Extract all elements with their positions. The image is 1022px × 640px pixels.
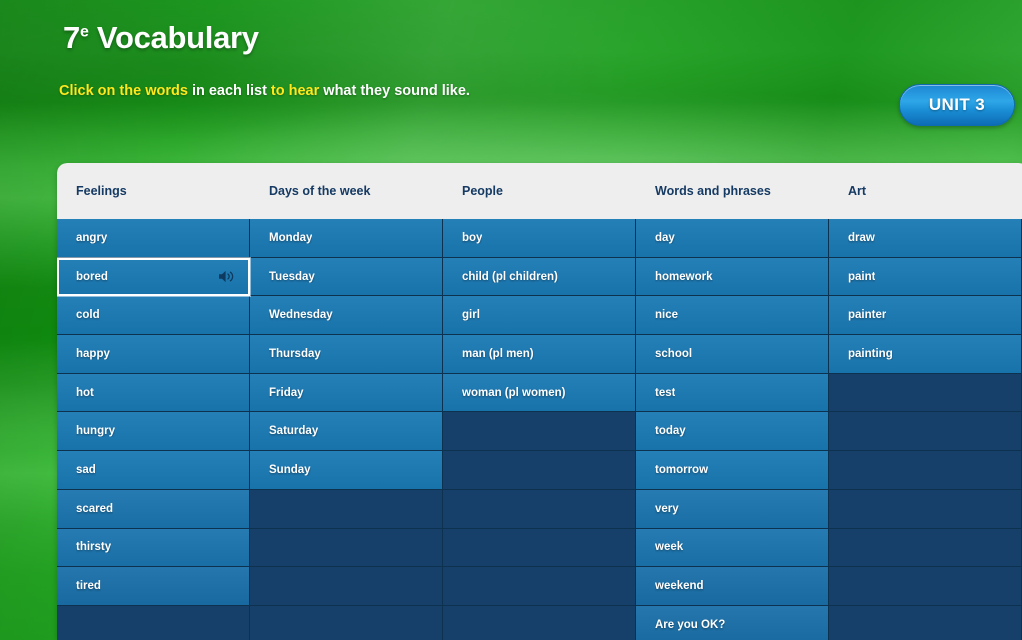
empty-cell	[443, 606, 636, 640]
vocab-word-label: man (pl men)	[462, 348, 534, 360]
vocab-word-label: Thursday	[269, 348, 321, 360]
vocab-word-cell[interactable]: painting	[829, 335, 1022, 374]
vocab-word-cell-selected[interactable]: bored	[57, 258, 250, 297]
vocab-word-label: Wednesday	[269, 309, 333, 321]
instruction-plain-1: in each list	[188, 83, 271, 99]
vocab-word-cell[interactable]: Are you OK?	[636, 606, 829, 640]
table-row: angryMondayboydaydraw	[57, 219, 1022, 258]
vocab-word-label: painting	[848, 348, 893, 360]
vocab-word-cell[interactable]: nice	[636, 296, 829, 335]
vocab-word-label: nice	[655, 309, 678, 321]
vocab-word-label: school	[655, 348, 692, 360]
empty-cell	[829, 490, 1022, 529]
table-body: angryMondayboydaydrawboredTuesdaychild (…	[57, 219, 1022, 640]
table-row: Are you OK?	[57, 606, 1022, 640]
vocab-word-cell[interactable]: sad	[57, 451, 250, 490]
vocab-word-label: Are you OK?	[655, 619, 725, 631]
page-title-main: Vocabulary	[97, 20, 259, 55]
vocab-word-cell[interactable]: weekend	[636, 567, 829, 606]
vocab-word-cell[interactable]: hungry	[57, 412, 250, 451]
vocab-word-label: homework	[655, 271, 713, 283]
page-header: 7e Vocabulary Click on the words in each…	[0, 0, 1022, 163]
vocab-word-cell[interactable]: Friday	[250, 374, 443, 413]
vocab-word-cell[interactable]: test	[636, 374, 829, 413]
empty-cell	[829, 606, 1022, 640]
vocab-word-cell[interactable]: scared	[57, 490, 250, 529]
empty-cell	[57, 606, 250, 640]
column-header-2: People	[443, 163, 636, 219]
vocab-word-cell[interactable]: Wednesday	[250, 296, 443, 335]
vocab-word-cell[interactable]: homework	[636, 258, 829, 297]
empty-cell	[250, 606, 443, 640]
vocab-word-label: cold	[76, 309, 100, 321]
vocab-word-cell[interactable]: happy	[57, 335, 250, 374]
vocab-word-label: woman (pl women)	[462, 387, 566, 399]
vocab-word-cell[interactable]: boy	[443, 219, 636, 258]
empty-cell	[443, 490, 636, 529]
instruction-text: Click on the words in each list to hear …	[59, 83, 470, 99]
vocab-word-label: draw	[848, 232, 875, 244]
vocab-word-label: week	[655, 541, 683, 553]
instruction-highlight-1: Click on the words	[59, 83, 188, 99]
empty-cell	[829, 529, 1022, 568]
vocab-word-cell[interactable]: thirsty	[57, 529, 250, 568]
vocab-word-cell[interactable]: paint	[829, 258, 1022, 297]
vocab-word-cell[interactable]: Saturday	[250, 412, 443, 451]
vocab-word-cell[interactable]: hot	[57, 374, 250, 413]
vocab-word-cell[interactable]: day	[636, 219, 829, 258]
vocab-word-label: happy	[76, 348, 110, 360]
vocab-word-label: paint	[848, 271, 875, 283]
table-row: scaredvery	[57, 490, 1022, 529]
column-header-1: Days of the week	[250, 163, 443, 219]
vocab-word-label: weekend	[655, 580, 704, 592]
vocab-word-cell[interactable]: Thursday	[250, 335, 443, 374]
empty-cell	[250, 490, 443, 529]
vocab-word-label: Tuesday	[269, 271, 315, 283]
vocab-word-label: sad	[76, 464, 96, 476]
vocab-word-label: tomorrow	[655, 464, 708, 476]
vocab-word-cell[interactable]: painter	[829, 296, 1022, 335]
table-row: happyThursdayman (pl men)schoolpainting	[57, 335, 1022, 374]
empty-cell	[829, 451, 1022, 490]
column-header-3: Words and phrases	[636, 163, 829, 219]
vocab-word-cell[interactable]: tomorrow	[636, 451, 829, 490]
empty-cell	[443, 412, 636, 451]
vocab-word-label: hot	[76, 387, 94, 399]
vocab-word-cell[interactable]: Sunday	[250, 451, 443, 490]
empty-cell	[829, 374, 1022, 413]
table-header-row: FeelingsDays of the weekPeopleWords and …	[57, 163, 1022, 219]
vocab-word-label: very	[655, 503, 679, 515]
vocab-word-label: Monday	[269, 232, 312, 244]
vocab-word-label: child (pl children)	[462, 271, 558, 283]
vocab-word-label: today	[655, 425, 686, 437]
empty-cell	[829, 567, 1022, 606]
vocab-word-label: Saturday	[269, 425, 318, 437]
instruction-plain-2: what they sound like.	[319, 83, 470, 99]
table-row: hungrySaturdaytoday	[57, 412, 1022, 451]
vocab-word-label: thirsty	[76, 541, 111, 553]
vocab-word-label: test	[655, 387, 675, 399]
empty-cell	[250, 567, 443, 606]
vocab-word-cell[interactable]: tired	[57, 567, 250, 606]
vocab-word-cell[interactable]: man (pl men)	[443, 335, 636, 374]
empty-cell	[443, 451, 636, 490]
unit-badge-button[interactable]: UNIT 3	[899, 84, 1015, 126]
table-row: tiredweekend	[57, 567, 1022, 606]
empty-cell	[250, 529, 443, 568]
vocab-word-label: tired	[76, 580, 101, 592]
vocab-word-cell[interactable]: today	[636, 412, 829, 451]
vocab-word-label: angry	[76, 232, 107, 244]
empty-cell	[443, 567, 636, 606]
table-row: sadSundaytomorrow	[57, 451, 1022, 490]
vocab-word-cell[interactable]: school	[636, 335, 829, 374]
vocab-word-label: Sunday	[269, 464, 311, 476]
speaker-icon[interactable]	[218, 269, 235, 284]
vocabulary-table-panel: FeelingsDays of the weekPeopleWords and …	[57, 163, 1022, 640]
page-title-ordinal: e	[80, 24, 89, 41]
vocab-word-label: boy	[462, 232, 482, 244]
empty-cell	[443, 529, 636, 568]
vocab-word-label: hungry	[76, 425, 115, 437]
vocab-word-cell[interactable]: child (pl children)	[443, 258, 636, 297]
vocab-word-cell[interactable]: very	[636, 490, 829, 529]
vocab-word-label: Friday	[269, 387, 304, 399]
vocab-word-cell[interactable]: girl	[443, 296, 636, 335]
vocab-word-label: day	[655, 232, 675, 244]
vocab-word-cell[interactable]: draw	[829, 219, 1022, 258]
empty-cell	[829, 412, 1022, 451]
vocab-word-cell[interactable]: cold	[57, 296, 250, 335]
vocab-word-cell[interactable]: woman (pl women)	[443, 374, 636, 413]
table-row: hotFridaywoman (pl women)test	[57, 374, 1022, 413]
vocab-word-cell[interactable]: Monday	[250, 219, 443, 258]
vocab-word-cell[interactable]: angry	[57, 219, 250, 258]
page-title-number: 7	[63, 20, 80, 55]
vocab-word-label: scared	[76, 503, 113, 515]
page-title: 7e Vocabulary	[63, 20, 259, 56]
instruction-highlight-2: to hear	[271, 83, 319, 99]
vocab-word-label: girl	[462, 309, 480, 321]
unit-badge-label: UNIT 3	[929, 95, 985, 115]
table-row: coldWednesdaygirlnicepainter	[57, 296, 1022, 335]
vocab-word-label: painter	[848, 309, 886, 321]
table-row: boredTuesdaychild (pl children)homeworkp…	[57, 258, 1022, 297]
vocab-word-cell[interactable]: Tuesday	[250, 258, 443, 297]
vocab-word-cell[interactable]: week	[636, 529, 829, 568]
column-header-4: Art	[829, 163, 1022, 219]
column-header-0: Feelings	[57, 163, 250, 219]
vocab-word-label: bored	[76, 271, 108, 283]
table-row: thirstyweek	[57, 529, 1022, 568]
